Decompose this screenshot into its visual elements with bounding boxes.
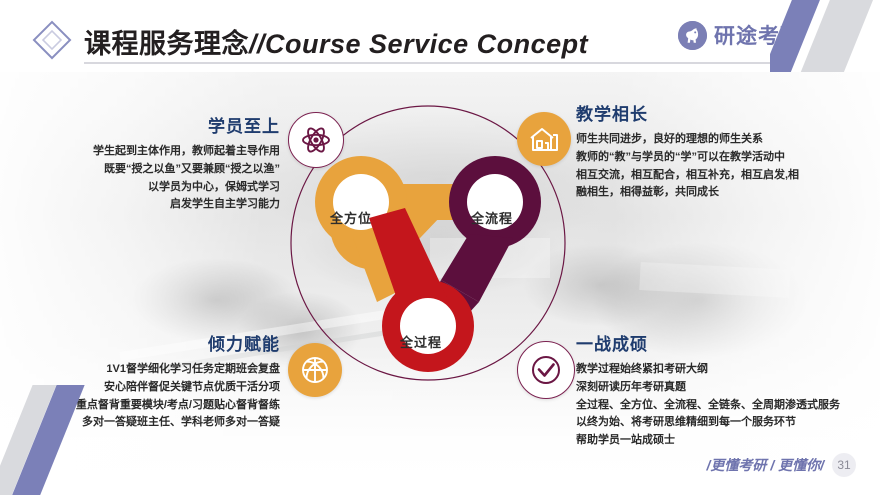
- block-line: 教师的“教”与学员的“学”可以在教学活动中: [576, 149, 876, 167]
- page-title: 课程服务理念//Course Service Concept: [84, 22, 588, 61]
- page-title-separator: //: [249, 29, 265, 59]
- header-divider: [84, 62, 784, 64]
- concept-block-mutual-growth: 教学相长 师生共同进步，良好的理想的师生关系 教师的“教”与学员的“学”可以在教…: [576, 100, 876, 202]
- house-icon: [517, 112, 571, 166]
- footer-corner-decoration: [0, 385, 120, 495]
- block-line: 启发学生自主学习能力: [38, 196, 280, 214]
- diagram-lobe-label-quanliucheng: 全流程: [471, 208, 513, 227]
- block-line: 全过程、全方位、全流程、全链条、全周期渗透式服务: [576, 397, 876, 415]
- block-line: 帮助学员一站成硕士: [576, 432, 876, 450]
- diamond-outline-icon: [30, 18, 74, 62]
- page-title-en: Course Service Concept: [265, 29, 588, 59]
- concept-block-student-first: 学员至上 学生起到主体作用，教师起着主导作用 既要“授之以鱼”又要兼顾“授之以渔…: [38, 112, 280, 214]
- block-line: 1V1督学细化学习任务定期班会复盘: [30, 361, 280, 379]
- slide-header: 课程服务理念//Course Service Concept 研途考研: [0, 0, 880, 72]
- slide-footer: /更懂考研 / 更懂你/ 31: [707, 453, 856, 477]
- block-heading: 学员至上: [38, 112, 280, 137]
- atom-icon: [288, 112, 344, 168]
- block-heading: 一战成硕: [576, 330, 876, 355]
- basketball-icon: [288, 343, 342, 397]
- block-heading: 教学相长: [576, 100, 876, 125]
- page-title-cn: 课程服务理念: [84, 29, 249, 59]
- block-line: 相互交流，相互配合，相互补充，相互启发,相: [576, 167, 876, 185]
- diagram-lobe-label-quanguocheng: 全过程: [400, 332, 442, 351]
- block-line: 深刻研读历年考研真题: [576, 379, 876, 397]
- block-line: 融相生，相得益彰，共同成长: [576, 184, 876, 202]
- block-line: 既要“授之以鱼”又要兼顾“授之以渔”: [38, 161, 280, 179]
- block-line: 学生起到主体作用，教师起着主导作用: [38, 143, 280, 161]
- footer-tagline: /更懂考研 / 更懂你/: [707, 455, 824, 475]
- block-line: 以终为始、将考研思维精细到每一个服务环节: [576, 414, 876, 432]
- header-corner-decoration: [770, 0, 880, 72]
- check-circle-icon: [517, 341, 575, 399]
- block-line: 以学员为中心，保姆式学习: [38, 179, 280, 197]
- block-line: 教学过程始终紧扣考研大纲: [576, 361, 876, 379]
- horse-head-circle-icon: [678, 21, 707, 50]
- slide-root: 课程服务理念//Course Service Concept 研途考研 学员至上…: [0, 0, 880, 495]
- page-number-badge: 31: [832, 453, 856, 477]
- diagram-lobe-label-quanfangwei: 全方位: [330, 208, 372, 227]
- block-heading: 倾力赋能: [30, 330, 280, 355]
- concept-block-one-shot-success: 一战成硕 教学过程始终紧扣考研大纲 深刻研读历年考研真题 全过程、全方位、全流程…: [576, 330, 876, 450]
- block-line: 师生共同进步，良好的理想的师生关系: [576, 131, 876, 149]
